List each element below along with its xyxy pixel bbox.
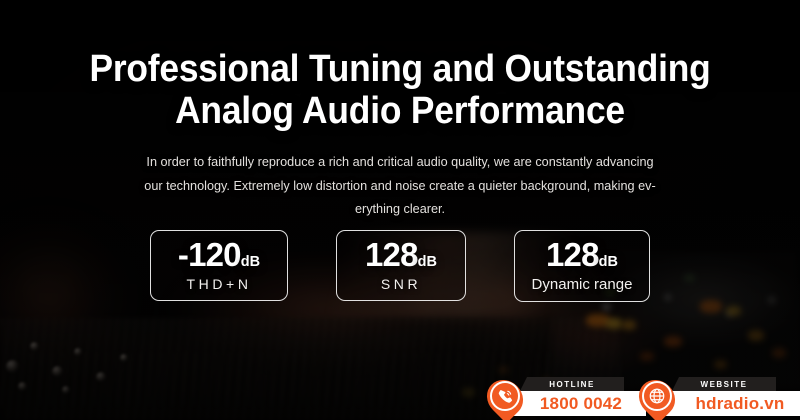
spec-value: -120dB (151, 238, 287, 273)
hotline-strip-label: HOTLINE (549, 380, 595, 389)
globe-icon (642, 381, 672, 411)
spec-label: Dynamic range (515, 276, 649, 293)
spec-value: 128dB (515, 238, 649, 273)
hotline-badge[interactable]: HOTLINE 1800 0042 (486, 376, 646, 420)
banner-description: In order to faithfully reproduce a rich … (122, 150, 679, 221)
spec-number: -120 (178, 236, 241, 273)
spec-number: 128 (546, 236, 599, 273)
website-url: hdradio.vn (696, 394, 785, 414)
website-badge[interactable]: WEBSITE hdradio.vn (638, 376, 800, 420)
website-strip: WEBSITE (672, 377, 776, 391)
spec-value: 128dB (337, 238, 465, 273)
spec-card-snr: 128dB SNR (336, 230, 466, 301)
banner-content: Professional Tuning and Outstanding Anal… (0, 0, 800, 420)
hotline-panel: 1800 0042 (510, 391, 646, 416)
spec-label: SNR (337, 276, 465, 292)
spec-card-thd-n: -120dB THD+N (150, 230, 288, 301)
spec-number: 128 (365, 236, 418, 273)
page-title: Professional Tuning and Outstanding Anal… (28, 48, 772, 132)
contact-footer: HOTLINE 1800 0042 WEBSITE (486, 376, 800, 420)
spec-card-dynamic-range: 128dB Dynamic range (514, 230, 650, 302)
spec-unit: dB (599, 254, 618, 270)
hotline-strip: HOTLINE (520, 377, 624, 391)
spec-label: THD+N (151, 276, 287, 292)
audio-performance-banner: Professional Tuning and Outstanding Anal… (0, 0, 800, 420)
spec-unit: dB (418, 254, 437, 270)
hotline-number: 1800 0042 (540, 394, 622, 414)
spec-unit: dB (241, 254, 260, 270)
phone-icon (490, 381, 520, 411)
spec-list: -120dB THD+N 128dB SNR 128dB Dynamic ran… (150, 230, 650, 302)
website-strip-label: WEBSITE (701, 380, 748, 389)
website-panel: hdradio.vn (662, 391, 800, 416)
